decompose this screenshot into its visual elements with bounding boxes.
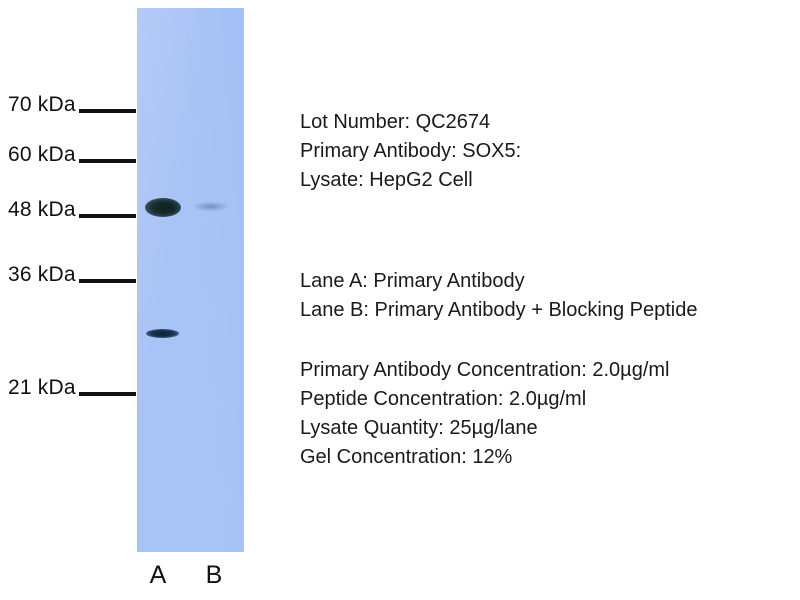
- lane-a-legend-text: Lane A: Primary Antibody: [300, 267, 697, 296]
- band-lane-b-faint: [194, 202, 228, 211]
- primary-antibody-text: Primary Antibody: SOX5:: [300, 137, 521, 166]
- band-lane-a-secondary: [146, 329, 179, 338]
- marker-tick-icon: [79, 109, 136, 113]
- western-blot-figure: 70 kDa 60 kDa 48 kDa 36 kDa 21 kDa A B L…: [0, 0, 800, 600]
- blot-membrane: [137, 8, 244, 552]
- lane-b-legend-text: Lane B: Primary Antibody + Blocking Pept…: [300, 296, 697, 325]
- sample-info-block: Lot Number: QC2674 Primary Antibody: SOX…: [300, 108, 521, 195]
- marker-tick-icon: [79, 214, 136, 218]
- marker-tick-icon: [79, 159, 136, 163]
- lot-number-text: Lot Number: QC2674: [300, 108, 521, 137]
- marker-label: 60 kDa: [8, 143, 76, 167]
- marker-label: 70 kDa: [8, 93, 76, 117]
- molecular-weight-marker: 60 kDa: [8, 138, 136, 172]
- lane-legend-block: Lane A: Primary Antibody Lane B: Primary…: [300, 267, 697, 325]
- marker-label: 36 kDa: [8, 263, 76, 287]
- molecular-weight-marker: 48 kDa: [8, 193, 136, 227]
- peptide-concentration-text: Peptide Concentration: 2.0µg/ml: [300, 385, 669, 414]
- marker-label: 48 kDa: [8, 198, 76, 222]
- band-lane-a-primary: [145, 198, 181, 217]
- molecular-weight-marker: 21 kDa: [8, 371, 136, 405]
- gel-concentration-text: Gel Concentration: 12%: [300, 443, 669, 472]
- molecular-weight-marker: 36 kDa: [8, 258, 136, 292]
- lane-label-b: B: [196, 561, 232, 590]
- molecular-weight-marker: 70 kDa: [8, 88, 136, 122]
- marker-tick-icon: [79, 279, 136, 283]
- marker-tick-icon: [79, 392, 136, 396]
- lane-label-a: A: [140, 561, 176, 590]
- marker-label: 21 kDa: [8, 376, 76, 400]
- lysate-quantity-text: Lysate Quantity: 25µg/lane: [300, 414, 669, 443]
- primary-antibody-concentration-text: Primary Antibody Concentration: 2.0µg/ml: [300, 356, 669, 385]
- conditions-block: Primary Antibody Concentration: 2.0µg/ml…: [300, 356, 669, 472]
- lysate-text: Lysate: HepG2 Cell: [300, 166, 521, 195]
